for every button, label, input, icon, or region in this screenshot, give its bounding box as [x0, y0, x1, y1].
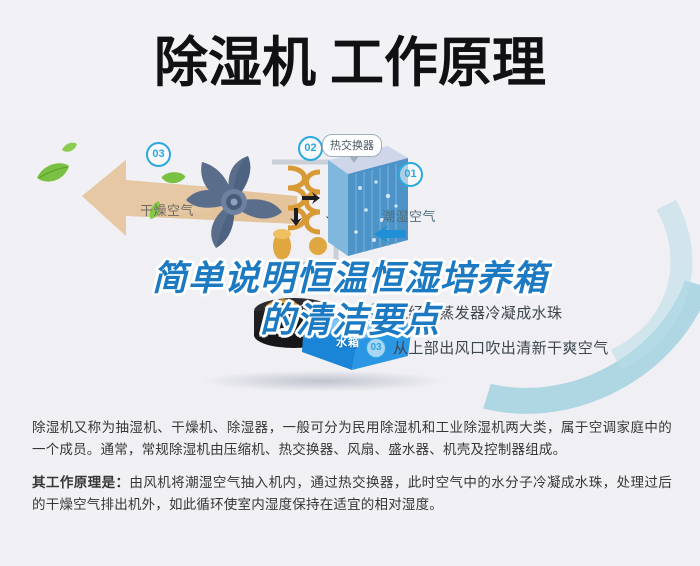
heat-exchanger-bubble: 热交换器: [322, 134, 382, 157]
leaf-icon-small: [62, 142, 77, 153]
machine-shadow: [198, 370, 448, 392]
body-copy: 除湿机又称为抽湿机、干燥机、除湿器，一般可分为民用除湿机和工业除湿机两大类，属于…: [32, 417, 672, 527]
step-text: 从上部出风口吹出清新干爽空气: [393, 337, 609, 358]
heat-exchanger-icon: [318, 144, 408, 256]
body-paragraph-1: 除湿机又称为抽湿机、干燥机、除湿器，一般可分为民用除湿机和工业除湿机两大类，属于…: [32, 417, 672, 461]
caption-dry-air: 干燥空气: [140, 200, 194, 219]
step-number: 02: [366, 303, 386, 323]
badge-02-heat-exchanger: 02: [298, 136, 323, 161]
page-title: 除湿机工作原理: [0, 30, 700, 96]
step-text: 气经过蒸发器冷凝成水珠: [393, 302, 562, 323]
body-paragraph-2-lead: 其工作原理是：: [32, 475, 129, 490]
badge-03-dry-air: 03: [146, 142, 171, 167]
leaf-icon: [36, 162, 70, 184]
page-title-part2: 工作原理: [330, 30, 546, 96]
step-item: 02 气经过蒸发器冷凝成水珠: [366, 302, 686, 323]
infographic-page: 除湿机工作原理: [0, 0, 700, 566]
body-paragraph-2: 其工作原理是：由风机将潮湿空气抽入机内，通过热交换器，此时空气中的水分子冷凝成水…: [32, 472, 672, 516]
step-caption-list: 02 气经过蒸发器冷凝成水珠 03 从上部出风口吹出清新干爽空气: [366, 302, 686, 372]
water-tank-label: 水箱: [336, 334, 360, 350]
step-number: 03: [366, 338, 386, 358]
caption-moist-air: 潮湿空气: [382, 206, 436, 225]
badge-01-moist-air: 01: [398, 162, 423, 187]
page-title-part1: 除湿机: [154, 30, 316, 96]
step-item: 03 从上部出风口吹出清新干爽空气: [366, 337, 686, 358]
